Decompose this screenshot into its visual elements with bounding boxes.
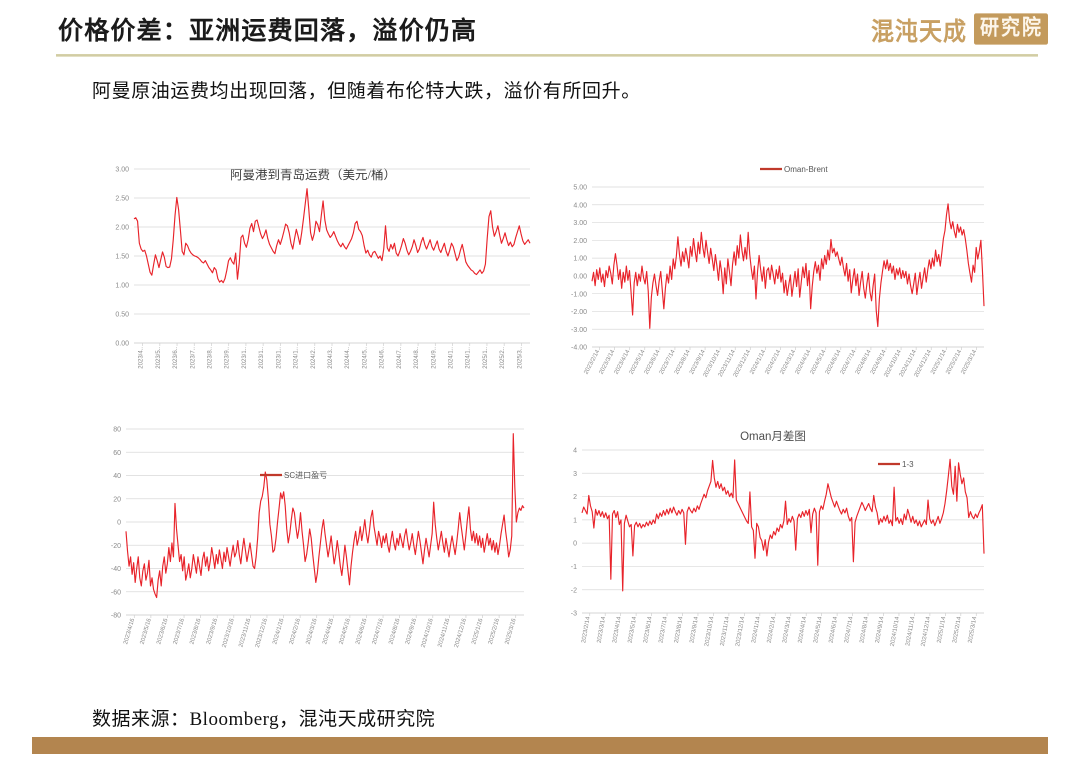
x-axis-tick-label: 2024/10/16 [421, 617, 435, 648]
chart-2-svg: -4.00-3.00-2.00-1.000.001.002.003.004.00… [548, 155, 998, 405]
chart-1-svg: 阿曼港到青岛运费（美元/桶）0.000.501.001.502.002.503.… [88, 155, 538, 405]
x-axis-tick-label: 2023/10/16 [222, 617, 236, 648]
x-axis-tick-label: 2024/12/16 [454, 617, 468, 648]
slide-header: 价格价差：亚洲运费回落，溢价仍高 混沌天成 研究院 [0, 0, 1080, 58]
x-axis-tick-label: 2024/5/16 [339, 617, 352, 645]
y-axis-tick-label: -40 [111, 566, 121, 573]
series-line [582, 459, 984, 591]
x-axis-tick-label: 2023/4.. [139, 347, 145, 369]
y-axis-tick-label: 1.00 [573, 256, 587, 263]
charts-container: 阿曼港到青岛运费（美元/桶）0.000.501.001.502.002.503.… [0, 140, 1080, 690]
x-axis-tick-label: 2023/12/14 [735, 616, 746, 647]
x-axis-tick-label: 2024/6/14 [829, 616, 840, 644]
y-axis-tick-label: 1.50 [115, 254, 129, 261]
x-axis-tick-label: 2023/7/14 [658, 616, 669, 644]
y-axis-tick-label: 0 [117, 520, 121, 527]
x-axis-tick-label: 2023/5/16 [140, 617, 153, 645]
x-axis-tick-label: 2025/3/14 [968, 616, 979, 644]
y-axis-tick-label: 80 [113, 427, 121, 434]
y-axis-tick-label: -4.00 [571, 345, 587, 352]
y-axis-tick-label: 1.00 [115, 283, 129, 290]
legend-label: SC进口盈亏 [284, 471, 327, 480]
x-axis-tick-label: 2024/9/14 [875, 616, 886, 644]
x-axis-tick-label: 2024/4.. [345, 347, 351, 369]
x-axis-tick-label: 2023/5/14 [628, 616, 639, 644]
x-axis-tick-label: 2024/12/14 [921, 616, 932, 647]
x-axis-tick-label: 2024/2/16 [289, 617, 302, 645]
x-axis-tick-label: 2023/8/16 [189, 617, 202, 645]
x-axis-tick-label: 2025/3/14 [960, 349, 978, 376]
chart-3-svg: -80-60-40-200204060802023/4/162023/5/162… [88, 415, 538, 675]
x-axis-tick-label: 2023/7.. [190, 347, 196, 369]
x-axis-tick-label: 2025/1/14 [937, 616, 948, 644]
x-axis-tick-label: 2025/1.. [483, 347, 489, 369]
y-axis-tick-label: 3.00 [115, 167, 129, 174]
chart-4-svg: Oman月差图-3-2-1012342023/2/142023/3/142023… [548, 420, 998, 675]
y-axis-tick-label: -3.00 [571, 327, 587, 334]
x-axis-tick-label: 2023/11/16 [238, 617, 252, 648]
x-axis-tick-label: 2024/2/14 [767, 616, 778, 644]
y-axis-tick-label: 60 [113, 450, 121, 457]
footer-accent-bar [32, 737, 1048, 754]
x-axis-tick-label: 2024/5/14 [813, 616, 824, 644]
y-axis-tick-label: 0.00 [115, 341, 129, 348]
x-axis-tick-label: 2023/3/14 [597, 616, 608, 644]
x-axis-tick-label: 2024/8/14 [859, 616, 870, 644]
x-axis-tick-label: 2023/9/16 [206, 617, 219, 645]
x-axis-tick-label: 2023/6.. [173, 347, 179, 369]
x-axis-tick-label: 2023/8/14 [674, 616, 685, 644]
x-axis-tick-label: 2023/7/16 [173, 617, 186, 645]
x-axis-tick-label: 2024/3.. [328, 347, 334, 369]
logo-wordmark: 混沌天成 [871, 11, 967, 48]
series-line [134, 189, 530, 283]
x-axis-tick-label: 2024/6/16 [355, 617, 368, 645]
x-axis-tick-label: 2024/7.. [397, 347, 403, 369]
x-axis-tick-label: 2024/7/14 [844, 616, 855, 644]
brand-logo: 混沌天成 研究院 [871, 9, 1048, 49]
x-axis-tick-label: 2024/9.. [431, 347, 437, 369]
x-axis-tick-label: 2024/1.. [294, 347, 300, 369]
x-axis-tick-label: 2024/1.. [449, 347, 455, 369]
x-axis-tick-label: 2024/1/14 [751, 616, 762, 644]
y-axis-tick-label: 4.00 [573, 202, 587, 209]
logo-seal-icon: 研究院 [974, 13, 1048, 44]
y-axis-tick-label: -20 [111, 543, 121, 550]
x-axis-tick-label: 2023/9.. [225, 347, 231, 369]
legend-label: Oman-Brent [784, 165, 828, 174]
y-axis-tick-label: -2 [571, 587, 577, 594]
x-axis-tick-label: 2023/6/14 [643, 616, 654, 644]
x-axis-tick-label: 2023/2/14 [581, 616, 592, 644]
x-axis-tick-label: 2023/5.. [156, 347, 162, 369]
y-axis-tick-label: 3 [573, 471, 577, 478]
x-axis-tick-label: 2023/4/16 [123, 617, 136, 645]
x-axis-tick-label: 2023/12/16 [255, 617, 269, 648]
y-axis-tick-label: 5.00 [573, 185, 587, 192]
x-axis-tick-label: 2024/9/16 [405, 617, 418, 645]
x-axis-tick-label: 2024/11/16 [437, 617, 451, 648]
x-axis-tick-label: 2024/3/14 [782, 616, 793, 644]
y-axis-tick-label: -1.00 [571, 291, 587, 298]
x-axis-tick-label: 2023/9/14 [689, 616, 700, 644]
chart-oman-brent-spread: -4.00-3.00-2.00-1.000.001.002.003.004.00… [548, 155, 998, 405]
x-axis-tick-label: 2023/4/14 [612, 616, 623, 644]
y-axis-tick-label: 2.50 [115, 196, 129, 203]
x-axis-tick-label: 2024/1.. [466, 347, 472, 369]
page-title: 价格价差：亚洲运费回落，溢价仍高 [58, 11, 477, 47]
x-axis-tick-label: 2025/2/14 [952, 616, 963, 644]
y-axis-tick-label: 1 [573, 517, 577, 524]
x-axis-tick-label: 2023/6/16 [156, 617, 169, 645]
x-axis-tick-label: 2024/3/16 [305, 617, 318, 645]
x-axis-tick-label: 2024/4/14 [798, 616, 809, 644]
chart-sc-import-margin: -80-60-40-200204060802023/4/162023/5/162… [88, 415, 538, 675]
x-axis-tick-label: 2024/4/16 [322, 617, 335, 645]
x-axis-tick-label: 2023/10/14 [704, 616, 715, 647]
y-axis-tick-label: 0 [573, 541, 577, 548]
y-axis-tick-label: 4 [573, 448, 577, 455]
y-axis-tick-label: 20 [113, 496, 121, 503]
y-axis-tick-label: -2.00 [571, 309, 587, 316]
x-axis-tick-label: 2024/2.. [311, 347, 317, 369]
lead-paragraph: 阿曼原油运费均出现回落，但随着布伦特大跌，溢价有所回升。 [92, 76, 641, 103]
x-axis-tick-label: 2023/11/14 [720, 616, 731, 647]
y-axis-tick-label: 0.00 [573, 273, 587, 280]
y-axis-tick-label: 2 [573, 494, 577, 501]
y-axis-tick-label: 0.50 [115, 312, 129, 319]
y-axis-tick-label: 2.00 [115, 225, 129, 232]
chart-title: Oman月差图 [740, 429, 806, 443]
series-line [126, 434, 524, 598]
x-axis-tick-label: 2025/3.. [517, 347, 523, 369]
x-axis-tick-label: 2023/8.. [208, 347, 214, 369]
x-axis-tick-label: 2025/3/16 [504, 617, 517, 645]
legend-label: 1-3 [902, 460, 914, 469]
y-axis-tick-label: -80 [111, 613, 121, 620]
y-axis-tick-label: -60 [111, 589, 121, 596]
x-axis-tick-label: 2023/1.. [276, 347, 282, 369]
y-axis-tick-label: 3.00 [573, 220, 587, 227]
x-axis-tick-label: 2025/2.. [500, 347, 506, 369]
x-axis-tick-label: 2024/5.. [362, 347, 368, 369]
x-axis-tick-label: 2024/11/14 [905, 616, 916, 647]
y-axis-tick-label: 40 [113, 473, 121, 480]
x-axis-tick-label: 2025/1/16 [471, 617, 484, 645]
x-axis-tick-label: 2023/1.. [259, 347, 265, 369]
data-source-note: 数据来源：Bloomberg，混沌天成研究院 [92, 704, 435, 731]
x-axis-tick-label: 2024/8.. [414, 347, 420, 369]
slide: 价格价差：亚洲运费回落，溢价仍高 混沌天成 研究院 阿曼原油运费均出现回落，但随… [0, 0, 1080, 764]
x-axis-tick-label: 2023/1.. [242, 347, 248, 369]
x-axis-tick-label: 2024/10/14 [890, 616, 901, 647]
x-axis-tick-label: 2024/6.. [380, 347, 386, 369]
chart-oman-qingdao-freight: 阿曼港到青岛运费（美元/桶）0.000.501.001.502.002.503.… [88, 155, 538, 405]
x-axis-tick-label: 2024/1/16 [272, 617, 285, 645]
y-axis-tick-label: 2.00 [573, 238, 587, 245]
x-axis-tick-label: 2025/2/16 [488, 617, 501, 645]
x-axis-tick-label: 2024/8/16 [388, 617, 401, 645]
x-axis-tick-label: 2024/7/16 [372, 617, 385, 645]
chart-oman-month-spread: Oman月差图-3-2-1012342023/2/142023/3/142023… [548, 420, 998, 675]
title-divider [56, 54, 1038, 57]
y-axis-tick-label: -1 [571, 564, 577, 571]
y-axis-tick-label: -3 [571, 611, 577, 618]
